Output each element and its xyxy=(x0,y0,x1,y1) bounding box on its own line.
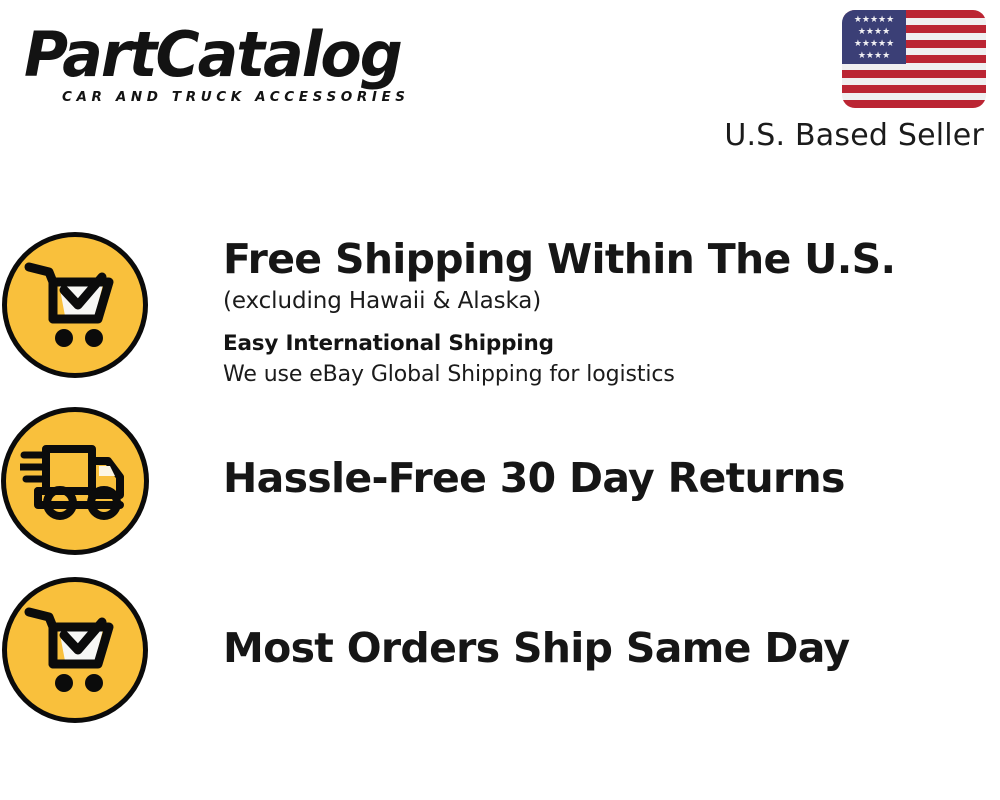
feature-icon-wrap xyxy=(0,232,150,378)
shopping-cart-check-icon xyxy=(2,232,148,378)
us-flag-icon: ★★★★★ ★★★★ ★★★★★ ★★★★ xyxy=(842,10,986,108)
feature-text: Most Orders Ship Same Day xyxy=(150,577,1000,673)
feature-title: Hassle-Free 30 Day Returns xyxy=(223,453,1000,503)
header: PartCatalog CAR AND TRUCK ACCESSORIES xyxy=(0,0,1000,175)
feature-icon-wrap xyxy=(0,577,150,723)
brand-tagline: CAR AND TRUCK ACCESSORIES xyxy=(62,89,494,106)
feature-note: We use eBay Global Shipping for logistic… xyxy=(223,359,1000,391)
feature-text: Free Shipping Within The U.S. (excluding… xyxy=(150,232,1000,391)
feature-strong: Easy International Shipping xyxy=(223,329,1000,359)
feature-subtitle: (excluding Hawaii & Alaska) xyxy=(223,284,1000,318)
us-based-seller-badge: ★★★★★ ★★★★ ★★★★★ ★★★★ U.S. Based Seller xyxy=(686,10,986,154)
feature-title: Free Shipping Within The U.S. xyxy=(223,234,1000,284)
flag-canton: ★★★★★ ★★★★ ★★★★★ ★★★★ xyxy=(842,10,906,64)
brand-wordmark: PartCatalog xyxy=(24,22,480,88)
us-based-seller-label: U.S. Based Seller xyxy=(686,118,984,154)
feature-title: Most Orders Ship Same Day xyxy=(223,623,1000,673)
feature-row: Free Shipping Within The U.S. (excluding… xyxy=(0,232,1000,407)
promo-banner: PartCatalog CAR AND TRUCK ACCESSORIES xyxy=(0,0,1000,800)
brand-logo[interactable]: PartCatalog CAR AND TRUCK ACCESSORIES xyxy=(24,22,494,106)
feature-list: Free Shipping Within The U.S. (excluding… xyxy=(0,232,1000,747)
delivery-truck-icon xyxy=(1,407,149,555)
feature-row: Most Orders Ship Same Day xyxy=(0,577,1000,747)
feature-text: Hassle-Free 30 Day Returns xyxy=(150,407,1000,503)
shopping-cart-check-icon xyxy=(2,577,148,723)
feature-row: Hassle-Free 30 Day Returns xyxy=(0,407,1000,577)
feature-icon-wrap xyxy=(0,407,150,555)
